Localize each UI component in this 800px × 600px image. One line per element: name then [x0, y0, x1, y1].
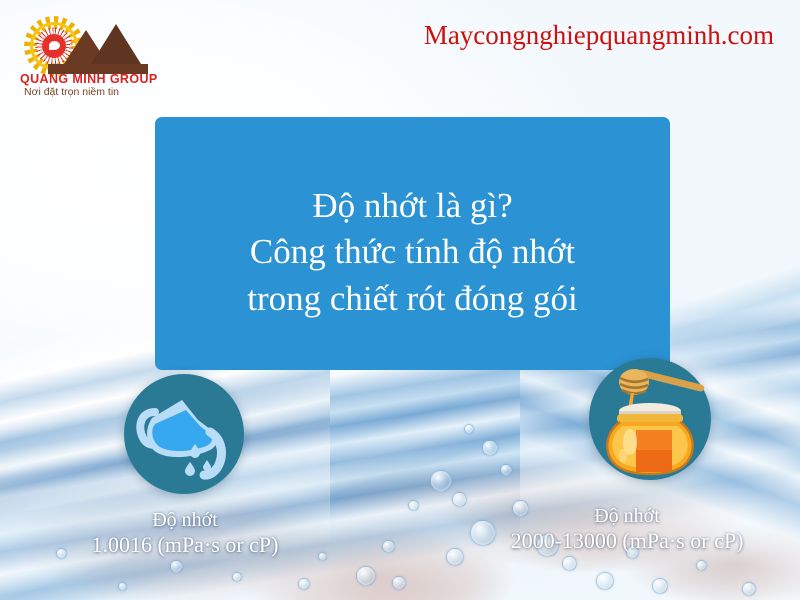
title-line-1: Độ nhớt là gì?: [312, 183, 512, 230]
caption-water-value: 1.0016 (mPa·s or cP): [30, 532, 340, 559]
logo-company-name: QUANG MINH GROUP: [20, 72, 148, 86]
caption-water: Độ nhớt 1.0016 (mPa·s or cP): [30, 508, 340, 559]
website-url[interactable]: Maycongnghiepquangminh.com: [424, 20, 774, 51]
water-pitcher-glyph: [124, 374, 244, 494]
gear-sun-mountain-icon: [18, 14, 90, 80]
caption-honey-value: 2000-13000 (mPa·s or cP): [462, 528, 792, 555]
logo-tagline: Nơi đặt trọn niềm tin: [24, 86, 152, 98]
title-line-3: trong chiết rót đóng gói: [247, 276, 578, 323]
title-panel: Độ nhớt là gì? Công thức tính độ nhớt tr…: [155, 117, 670, 370]
banner-canvas: QUANG MINH GROUP Nơi đặt trọn niềm tin M…: [0, 0, 800, 600]
caption-honey: Độ nhớt 2000-13000 (mPa·s or cP): [462, 504, 792, 555]
caption-water-label: Độ nhớt: [30, 508, 340, 532]
honey-jar-dipper-icon: [589, 358, 711, 480]
water-pitcher-pouring-icon: [124, 374, 244, 494]
caption-honey-label: Độ nhớt: [462, 504, 792, 528]
title-line-2: Công thức tính độ nhớt: [250, 229, 575, 276]
honey-jar-glyph: [589, 358, 711, 480]
company-logo[interactable]: QUANG MINH GROUP Nơi đặt trọn niềm tin: [18, 14, 148, 96]
